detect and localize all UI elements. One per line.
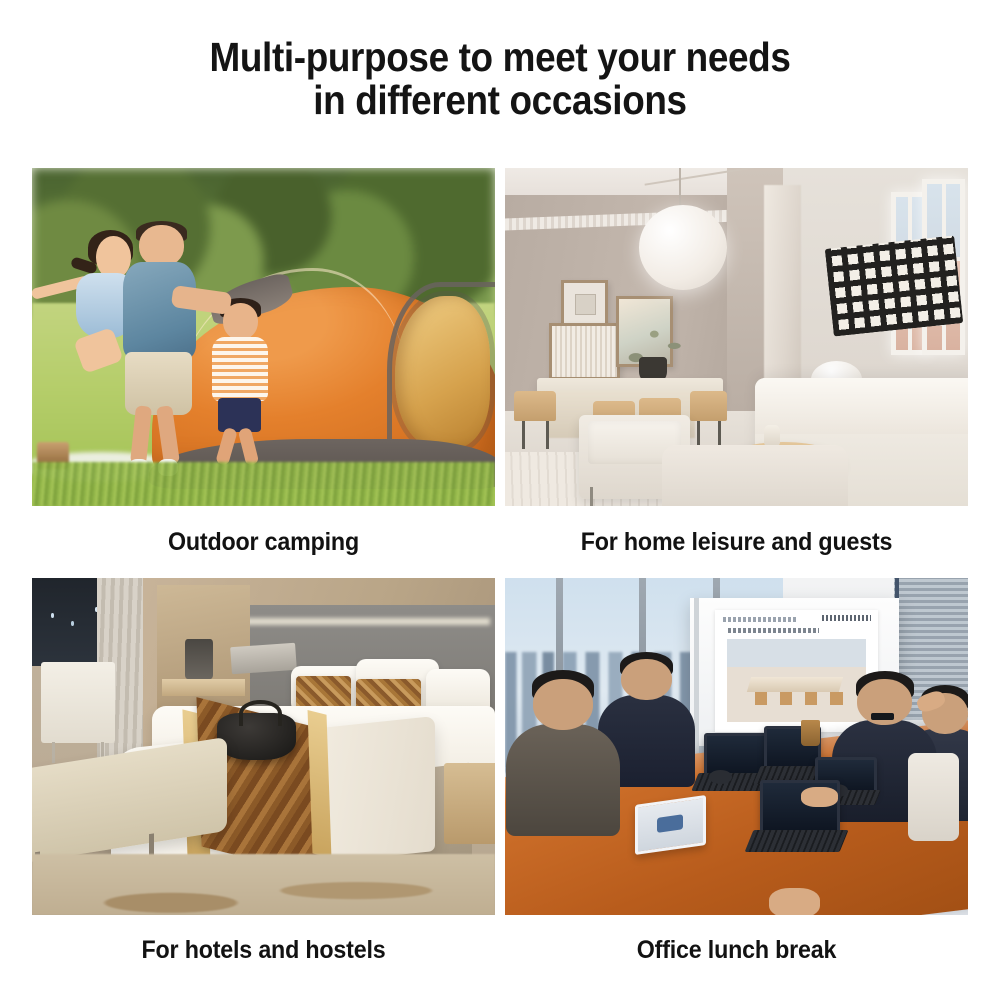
attendee-hand-foreground bbox=[769, 888, 820, 915]
desk-chair bbox=[41, 662, 115, 743]
table-vase bbox=[764, 425, 781, 446]
father-polo-shirt bbox=[123, 262, 196, 359]
occasion-grid: Outdoor camping bbox=[32, 168, 968, 985]
slide-office-image bbox=[727, 639, 867, 722]
slide-subheader-text bbox=[728, 628, 819, 633]
slide-image-chair bbox=[755, 692, 768, 705]
sofa-backrest bbox=[755, 378, 968, 435]
occasion-card-office: Office lunch break bbox=[505, 578, 968, 985]
grid-row-top: Outdoor camping bbox=[32, 168, 968, 578]
office-chair-back bbox=[908, 753, 959, 841]
boy-leg-right bbox=[238, 427, 260, 466]
headboard-light-strip bbox=[245, 618, 490, 625]
nightstand bbox=[444, 763, 495, 844]
card-caption: For home leisure and guests bbox=[521, 506, 952, 578]
wall-art-small bbox=[561, 280, 609, 330]
foreground-sofa bbox=[662, 445, 847, 506]
minibar-shelf bbox=[162, 679, 245, 696]
attendee-suit bbox=[506, 724, 620, 837]
reading-lamp bbox=[230, 643, 297, 674]
foreground-grass bbox=[32, 462, 495, 506]
chair-leg bbox=[522, 421, 525, 448]
coffee-cup bbox=[801, 720, 820, 747]
father-shorts bbox=[125, 352, 192, 415]
occasion-card-camping: Outdoor camping bbox=[32, 168, 495, 578]
boy-shorts bbox=[218, 398, 261, 432]
slide-image-chair bbox=[780, 692, 793, 705]
computer-mouse bbox=[709, 770, 732, 783]
slide-image-chair bbox=[830, 692, 843, 705]
tablet-screen-icon bbox=[657, 815, 683, 834]
card-caption: Office lunch break bbox=[521, 915, 952, 985]
night-window bbox=[32, 578, 106, 666]
boy-shirt bbox=[212, 337, 268, 401]
attendee-front-left bbox=[533, 679, 593, 827]
page-title: Multi-purpose to meet your needs in diff… bbox=[50, 36, 950, 123]
hotel-room-photo bbox=[32, 578, 495, 915]
chair-leg bbox=[52, 742, 55, 763]
card-caption: Outdoor camping bbox=[48, 506, 479, 578]
slide-corner-text bbox=[822, 615, 871, 621]
office-meeting-photo bbox=[505, 578, 968, 915]
slide-image-table bbox=[747, 677, 843, 692]
child-boy bbox=[203, 303, 277, 472]
kettle bbox=[185, 639, 213, 679]
wall-art-wide bbox=[549, 323, 620, 380]
dining-chair bbox=[514, 391, 556, 421]
patterned-carpet bbox=[32, 854, 495, 915]
dining-chair bbox=[690, 391, 727, 421]
attendee-head bbox=[533, 679, 593, 729]
promo-infographic: Multi-purpose to meet your needs in diff… bbox=[0, 0, 1000, 1000]
grid-row-bottom: For hotels and hostels bbox=[32, 578, 968, 985]
boy-leg-left bbox=[215, 427, 238, 466]
occasion-card-hotel: For hotels and hostels bbox=[32, 578, 495, 985]
attendee-head bbox=[621, 659, 672, 700]
slide-header-text bbox=[723, 617, 798, 622]
armchair-leg bbox=[590, 487, 593, 506]
attendee-back-left bbox=[621, 659, 672, 780]
laptop-keyboard bbox=[745, 830, 849, 852]
presentation-slide bbox=[715, 610, 878, 732]
living-room-photo bbox=[505, 168, 968, 506]
chair-leg bbox=[546, 421, 549, 448]
black-bag bbox=[217, 713, 296, 760]
father-head bbox=[139, 225, 184, 266]
attendee-hand bbox=[801, 787, 838, 807]
occasion-card-home: For home leisure and guests bbox=[505, 168, 968, 578]
card-caption: For hotels and hostels bbox=[48, 915, 479, 985]
plaid-cushion bbox=[825, 236, 963, 337]
slide-image-chair bbox=[805, 692, 818, 705]
camping-photo bbox=[32, 168, 495, 506]
adult-father bbox=[111, 225, 213, 468]
eyeglasses bbox=[871, 713, 894, 720]
wall-art-matte bbox=[575, 294, 595, 315]
tablet-device bbox=[635, 795, 706, 855]
globe-pendant-lamp bbox=[639, 205, 727, 290]
